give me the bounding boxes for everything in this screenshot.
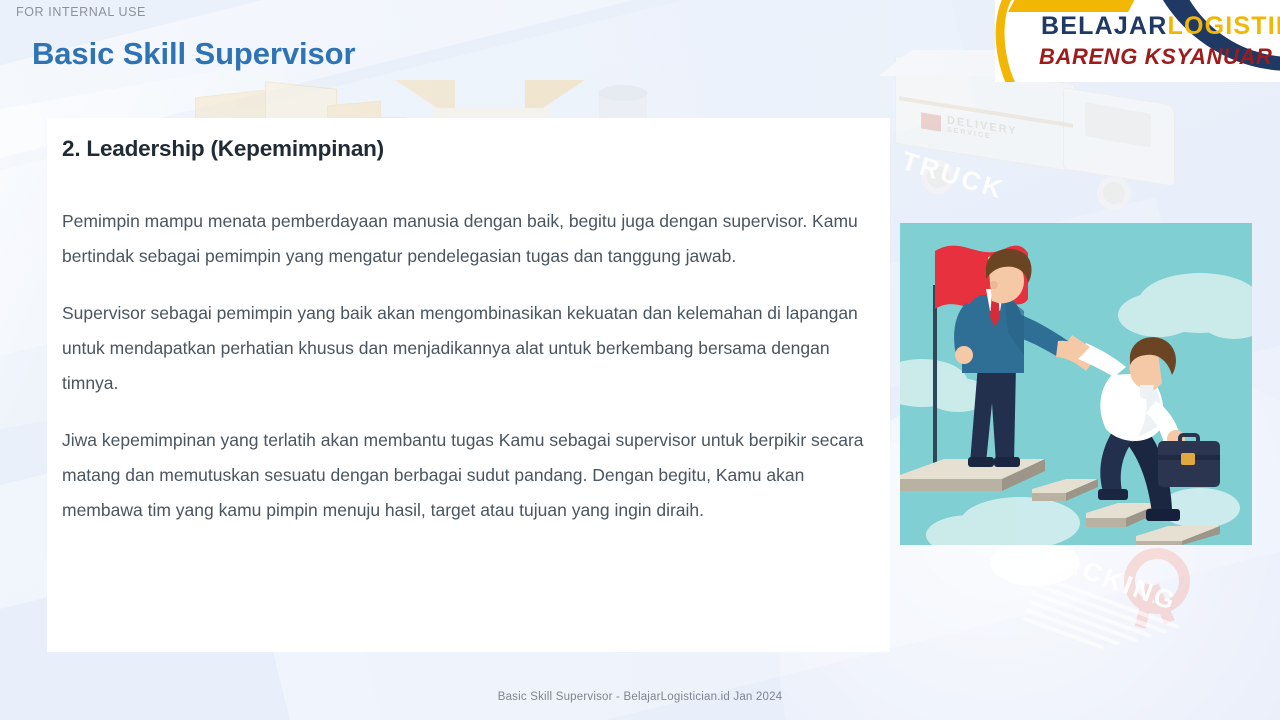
page-title: Basic Skill Supervisor — [32, 36, 355, 72]
leadership-illustration-svg — [900, 223, 1252, 545]
body-paragraph: Supervisor sebagai pemimpin yang baik ak… — [62, 296, 868, 401]
truck-logo-text: DELIVERY — [947, 114, 1018, 137]
background-white-blob — [990, 540, 1080, 586]
truck-logo-subtext: SERVICE — [947, 126, 1018, 144]
body-paragraph: Jiwa kepemimpinan yang terlatih akan mem… — [62, 423, 868, 528]
content-card: 2. Leadership (Kepemimpinan) Pemimpin ma… — [47, 118, 890, 652]
internal-use-label: FOR INTERNAL USE — [16, 5, 146, 19]
background-location-pin-icon — [1100, 540, 1220, 640]
slide-footer: Basic Skill Supervisor - BelajarLogistic… — [0, 691, 1280, 703]
logo-yellow-wedge — [1008, 0, 1142, 12]
body-paragraph: Pemimpin mampu menata pemberdayaan manus… — [62, 204, 868, 274]
presentation-slide: DELIVERY SERVICE TRUCK TRACKING FOR INTE… — [0, 0, 1280, 720]
section-heading: 2. Leadership (Kepemimpinan) — [62, 136, 384, 162]
brand-logo: BELAJARLOGISTIK BARENG KSYANUAR — [995, 0, 1280, 82]
background-tracking-word: TRACKING — [1020, 533, 1182, 617]
background-truck-word: TRUCK — [898, 145, 1008, 206]
section-body: Pemimpin mampu menata pemberdayaan manus… — [62, 204, 868, 528]
background-text-lines — [1020, 574, 1179, 676]
logo-brand-logistik: LOGISTIK — [1167, 12, 1280, 40]
logo-tagline: BARENG KSYANUAR — [1039, 44, 1273, 70]
logo-brand-belajar: BELAJAR — [1041, 12, 1167, 40]
leadership-illustration — [900, 223, 1252, 545]
logo-brand-name: BELAJARLOGISTIK — [1041, 12, 1280, 41]
